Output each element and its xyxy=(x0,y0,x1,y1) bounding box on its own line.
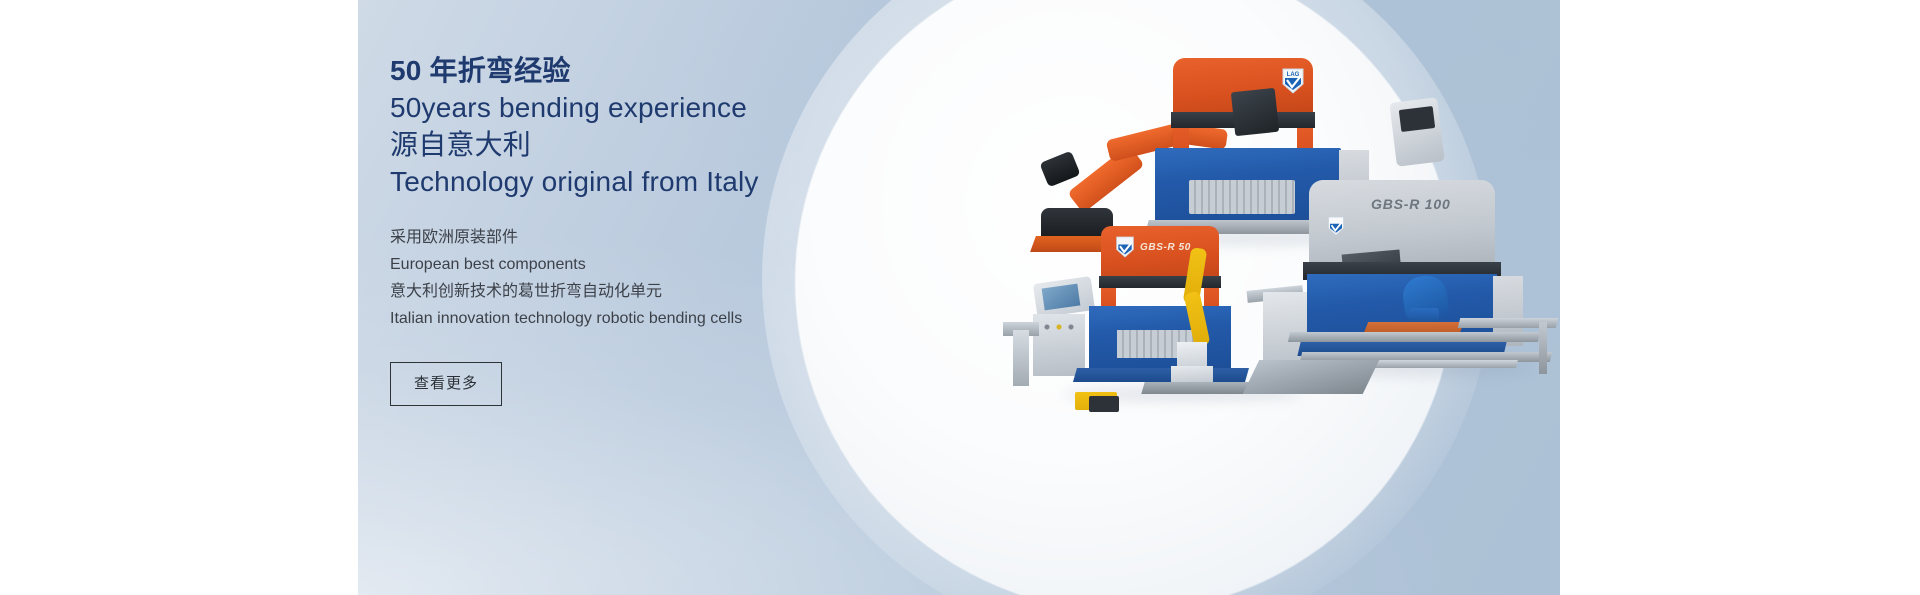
operator-console-buttons xyxy=(1039,318,1079,336)
headline-line-cn-1: 50 年折弯经验 xyxy=(390,52,810,89)
hero-subtext-list: 采用欧洲原装部件 European best components 意大利创新技… xyxy=(390,224,810,332)
view-more-button[interactable]: 查看更多 xyxy=(390,362,502,406)
page-root: LAG xyxy=(0,0,1920,595)
gbsr100-rail-front xyxy=(1288,332,1540,342)
floor-anchor-block-dark xyxy=(1089,396,1119,412)
subtext-line-1: 采用欧洲原装部件 xyxy=(390,224,810,251)
headline-line-cn-2: 源自意大利 xyxy=(390,126,810,163)
subtext-line-2: European best components xyxy=(390,251,810,278)
lag-logo-icon: LAG xyxy=(1281,68,1305,94)
stacked-sheet-pile xyxy=(1243,360,1380,394)
gbsr100-model-label: GBS-R 100 xyxy=(1371,196,1451,212)
headline-line-en-1: 50years bending experience xyxy=(390,89,810,126)
gbsr100-table-leg xyxy=(1539,322,1547,374)
hero-copy: 50 年折弯经验 50years bending experience 源自意大… xyxy=(390,52,810,406)
press-brake-display xyxy=(1231,88,1279,136)
press-brake-vent-grille xyxy=(1189,180,1295,214)
machinery-illustration: LAG xyxy=(703,30,1560,430)
subtext-line-3: 意大利创新技术的葛世折弯自动化单元 xyxy=(390,278,810,305)
subtext-line-4: Italian innovation technology robotic be… xyxy=(390,305,810,332)
gbsr50-model-label: GBS-R 50 xyxy=(1140,242,1191,253)
lag-logo-icon-gbsr100 xyxy=(1327,216,1345,236)
gbsr50-base-plate xyxy=(1073,368,1249,382)
robot-arm-gripper xyxy=(1039,151,1080,188)
headline-line-en-2: Technology original from Italy xyxy=(390,163,810,200)
svg-text:LAG: LAG xyxy=(1287,72,1300,78)
lag-logo-icon-small xyxy=(1115,236,1135,258)
auxiliary-post xyxy=(1013,330,1029,386)
control-pendant-screen xyxy=(1399,106,1435,132)
hero-banner: LAG xyxy=(358,0,1560,595)
